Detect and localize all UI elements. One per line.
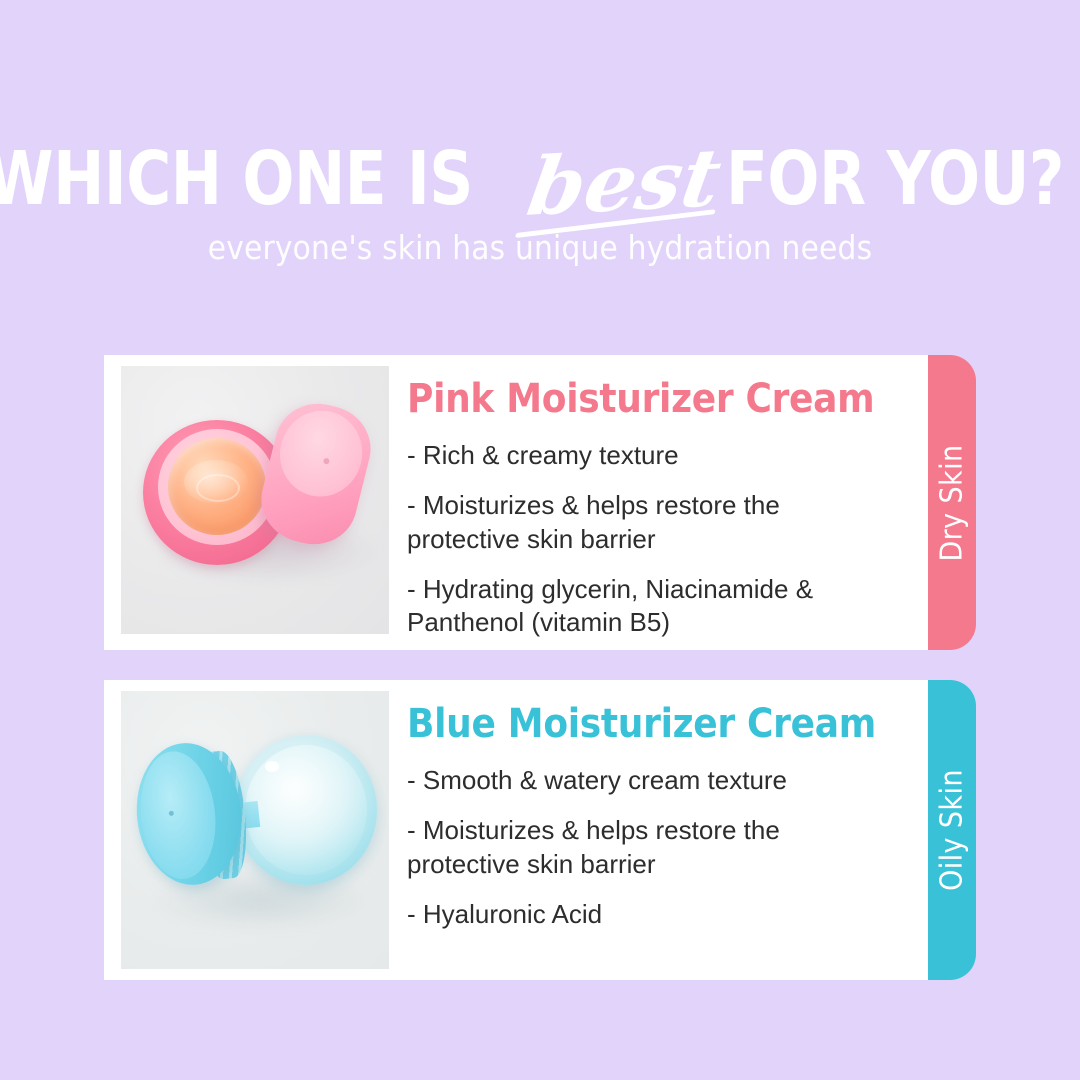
product-bullet: - Moisturizes & helps restore the protec… <box>407 489 897 556</box>
product-text-block: Pink Moisturizer Cream - Rich & creamy t… <box>389 366 928 639</box>
page-title: WHICH ONE IS best FOR YOU? <box>96 136 984 222</box>
product-bullet: - Rich & creamy texture <box>407 439 897 472</box>
skin-type-tab-label: Dry Skin <box>935 444 970 561</box>
headline-script-word: best <box>522 137 725 227</box>
product-card-pink: Pink Moisturizer Cream - Rich & creamy t… <box>104 355 976 650</box>
product-card-blue: Blue Moisturizer Cream - Smooth & watery… <box>104 680 976 980</box>
page-subtitle: everyone's skin has unique hydration nee… <box>0 228 1080 267</box>
product-bullet: - Hydrating glycerin, Niacinamide & Pant… <box>407 573 897 640</box>
product-text-block: Blue Moisturizer Cream - Smooth & watery… <box>389 691 928 931</box>
header-section: WHICH ONE IS best FOR YOU? everyone's sk… <box>0 0 1080 320</box>
product-bullet: - Moisturizes & helps restore the protec… <box>407 814 897 881</box>
product-title-blue: Blue Moisturizer Cream <box>407 704 910 744</box>
pink-jar-cream <box>168 438 266 535</box>
product-card-body: Blue Moisturizer Cream - Smooth & watery… <box>104 680 928 980</box>
product-title-pink: Pink Moisturizer Cream <box>407 379 910 419</box>
product-card-body: Pink Moisturizer Cream - Rich & creamy t… <box>104 355 928 650</box>
headline-post-text: FOR YOU? <box>726 142 1064 216</box>
skin-type-tab-label: Oily Skin <box>935 769 970 891</box>
pink-moisturizer-jar-photo <box>121 366 389 634</box>
blue-moisturizer-jar-photo <box>121 691 389 969</box>
skin-type-tab-dry: Dry Skin <box>928 355 976 650</box>
headline-pre-text: WHICH ONE IS <box>0 142 473 216</box>
product-bullet: - Smooth & watery cream texture <box>407 764 897 797</box>
skin-type-tab-oily: Oily Skin <box>928 680 976 980</box>
product-bullet: - Hyaluronic Acid <box>407 898 897 931</box>
